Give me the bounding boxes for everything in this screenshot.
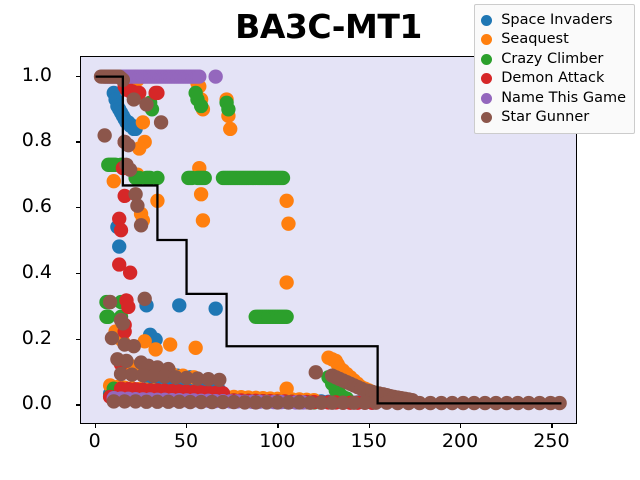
xtick-mark — [460, 424, 461, 428]
data-point — [112, 239, 126, 253]
data-point — [194, 99, 208, 113]
series-seaquest — [103, 69, 412, 407]
xtick-mark — [95, 424, 96, 428]
legend-label: Star Gunner — [501, 110, 589, 125]
legend-marker-icon — [481, 112, 492, 123]
chart-legend: Space InvadersSeaquestCrazy ClimberDemon… — [474, 4, 635, 134]
data-point — [121, 300, 135, 314]
data-point — [192, 69, 206, 83]
data-point — [101, 310, 115, 324]
data-point — [150, 171, 164, 185]
data-point — [163, 337, 177, 351]
xtick-mark — [277, 424, 278, 428]
data-point — [188, 341, 202, 355]
data-point — [196, 213, 210, 227]
data-point — [105, 331, 119, 345]
data-point — [114, 223, 128, 237]
ytick-label: 0.0 — [22, 394, 52, 413]
ytick-label: 0.2 — [22, 329, 52, 348]
data-point — [130, 199, 144, 213]
ytick-mark — [76, 76, 80, 77]
ytick-label: 0.8 — [22, 131, 52, 150]
data-point — [279, 194, 293, 208]
ytick-label: 0.6 — [22, 197, 52, 216]
data-point — [123, 266, 137, 280]
data-point — [127, 92, 141, 106]
data-point — [148, 342, 162, 356]
xtick-label: 200 — [442, 432, 478, 451]
legend-label: Name This Game — [501, 91, 626, 106]
xtick-mark — [369, 424, 370, 428]
ytick-mark — [76, 273, 80, 274]
legend-marker-icon — [481, 15, 492, 26]
data-point — [198, 171, 212, 185]
xtick-label: 150 — [351, 432, 387, 451]
data-point — [221, 102, 235, 116]
data-point — [279, 275, 293, 289]
data-point — [154, 115, 168, 129]
legend-marker-icon — [481, 34, 492, 45]
data-point — [97, 128, 111, 142]
data-point — [172, 298, 186, 312]
legend-label: Crazy Climber — [501, 52, 603, 67]
ytick-mark — [76, 404, 80, 405]
data-point — [136, 115, 150, 129]
legend-label: Seaquest — [501, 32, 569, 47]
xtick-mark — [551, 424, 552, 428]
xtick-label: 0 — [89, 432, 101, 451]
xtick-label: 50 — [174, 432, 198, 451]
xtick-label: 100 — [259, 432, 295, 451]
data-point — [119, 354, 133, 368]
data-point — [134, 218, 148, 232]
data-point — [309, 365, 323, 379]
legend-marker-icon — [481, 54, 492, 65]
xtick-mark — [186, 424, 187, 428]
data-point — [127, 339, 141, 353]
data-point — [138, 292, 152, 306]
chart-figure: BA3C-MT1 0.00.20.40.60.81.00501001502002… — [0, 0, 640, 480]
legend-item-space-invaders[interactable]: Space Invaders — [481, 11, 626, 30]
ytick-mark — [76, 207, 80, 208]
data-point — [281, 216, 295, 230]
legend-marker-icon — [481, 93, 492, 104]
data-point — [194, 187, 208, 201]
data-point — [107, 174, 121, 188]
data-point — [208, 69, 222, 83]
data-point — [123, 163, 137, 177]
ytick-label: 0.4 — [22, 263, 52, 282]
legend-label: Space Invaders — [501, 13, 612, 28]
ytick-label: 1.0 — [22, 66, 52, 85]
legend-label: Demon Attack — [501, 71, 604, 86]
data-point — [103, 295, 117, 309]
data-point — [276, 171, 290, 185]
legend-item-demon-attack[interactable]: Demon Attack — [481, 69, 626, 88]
data-point — [139, 97, 153, 111]
legend-marker-icon — [481, 73, 492, 84]
ytick-mark — [76, 141, 80, 142]
data-point — [279, 310, 293, 324]
data-point — [150, 86, 164, 100]
data-point — [212, 373, 226, 387]
legend-item-name-this-game[interactable]: Name This Game — [481, 89, 626, 108]
data-point — [223, 122, 237, 136]
data-point — [116, 316, 130, 330]
ytick-mark — [76, 339, 80, 340]
xtick-label: 250 — [533, 432, 569, 451]
legend-item-seaquest[interactable]: Seaquest — [481, 30, 626, 49]
legend-item-crazy-climber[interactable]: Crazy Climber — [481, 50, 626, 69]
data-point — [208, 301, 222, 315]
legend-item-star-gunner[interactable]: Star Gunner — [481, 108, 626, 127]
